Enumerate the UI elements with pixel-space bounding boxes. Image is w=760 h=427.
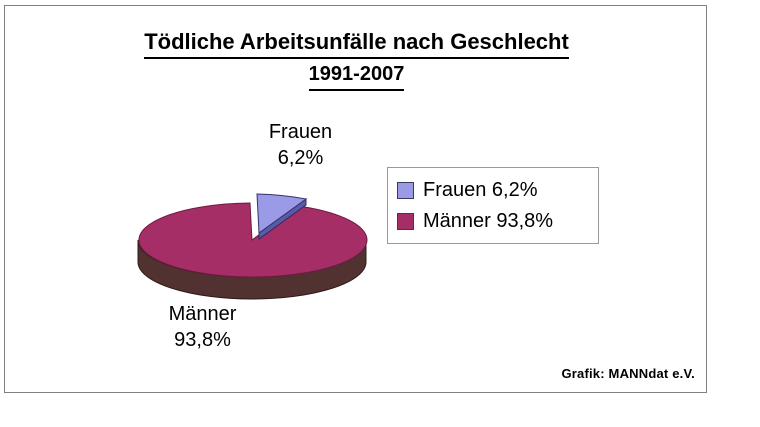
- chart-legend: Frauen 6,2% Männer 93,8%: [387, 167, 599, 244]
- pie-chart: [123, 181, 393, 306]
- chart-title-block: Tödliche Arbeitsunfälle nach Geschlecht …: [5, 28, 708, 91]
- chart-title-line-1: Tödliche Arbeitsunfälle nach Geschlecht: [5, 28, 708, 59]
- slice-label-frauen: Frauen 6,2%: [223, 119, 378, 171]
- pie-slice-maenner-top: [139, 203, 367, 277]
- pie-chart-svg: [123, 181, 393, 306]
- legend-label-frauen: Frauen 6,2%: [423, 179, 538, 202]
- legend-label-maenner: Männer 93,8%: [423, 210, 553, 233]
- chart-frame: Tödliche Arbeitsunfälle nach Geschlecht …: [4, 5, 707, 393]
- legend-swatch-frauen: [397, 182, 414, 199]
- credit-line: Grafik: MANNdat e.V.: [385, 366, 695, 381]
- slice-label-maenner: Männer 93,8%: [125, 301, 280, 353]
- chart-title-line-2: 1991-2007: [5, 59, 708, 91]
- legend-item-frauen[interactable]: Frauen 6,2%: [397, 175, 598, 206]
- slice-label-frauen-value: 6,2%: [223, 145, 378, 171]
- slice-label-maenner-value: 93,8%: [125, 327, 280, 353]
- title-line-2-text: 1991-2007: [309, 60, 405, 91]
- legend-item-maenner[interactable]: Männer 93,8%: [397, 206, 598, 237]
- chart-canvas: Tödliche Arbeitsunfälle nach Geschlecht …: [0, 0, 760, 427]
- legend-swatch-maenner: [397, 213, 414, 230]
- slice-label-frauen-name: Frauen: [223, 119, 378, 145]
- title-line-1-text: Tödliche Arbeitsunfälle nach Geschlecht: [144, 28, 569, 59]
